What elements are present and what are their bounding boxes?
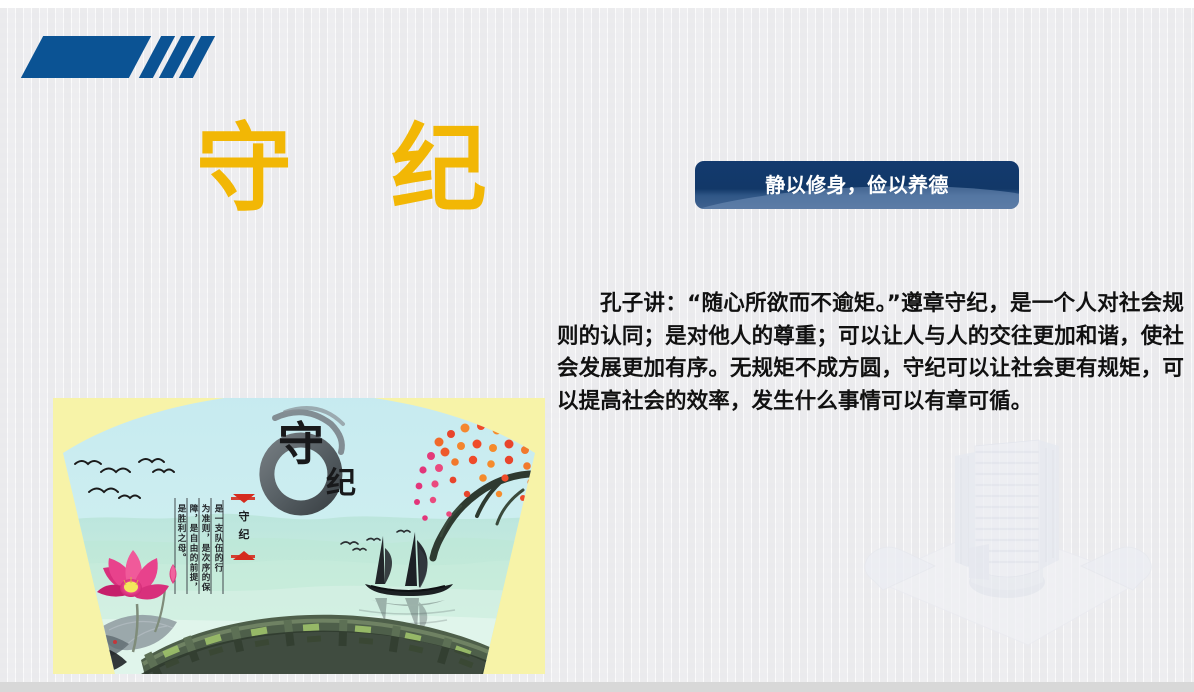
fan-brush-char-main: 守 <box>278 417 324 471</box>
fan-motto-col-3: 障，是自由的前提， <box>188 503 198 593</box>
logo-main-bar <box>21 36 151 78</box>
bottom-strip <box>0 682 1194 692</box>
fan-motto-col-2: 为准则，是次序的保 <box>200 503 211 593</box>
chinese-fan-ink-painting: 守 纪 是一支队伍的行 为准则，是次序的保 障，是自由的前提， 是胜利之母。 <box>53 398 545 674</box>
fan-motto-col-1: 是一支队伍的行 <box>213 504 224 573</box>
motto-badge: 静以修身，俭以养德 <box>695 161 1019 209</box>
body-paragraph: 孔子讲：“随心所欲而不逾矩。”遵章守纪，是一个人对社会规则的认同；是对他人的尊重… <box>557 288 1184 419</box>
svg-text:纪: 纪 <box>239 527 250 541</box>
fan-brush-char-sub: 纪 <box>326 466 356 501</box>
motto-badge-label: 静以修身，俭以养德 <box>695 161 1019 209</box>
blue-chevron-logo <box>18 36 208 78</box>
fan-motto-col-4: 是胜利之母。 <box>176 504 187 563</box>
page-title: 守 纪 <box>196 118 519 222</box>
slide-canvas: 守 纪 静以修身，俭以养德 孔子讲：“随心所欲而不逾矩。”遵章守纪，是一个人对社… <box>0 0 1194 692</box>
svg-text:守: 守 <box>239 509 250 523</box>
